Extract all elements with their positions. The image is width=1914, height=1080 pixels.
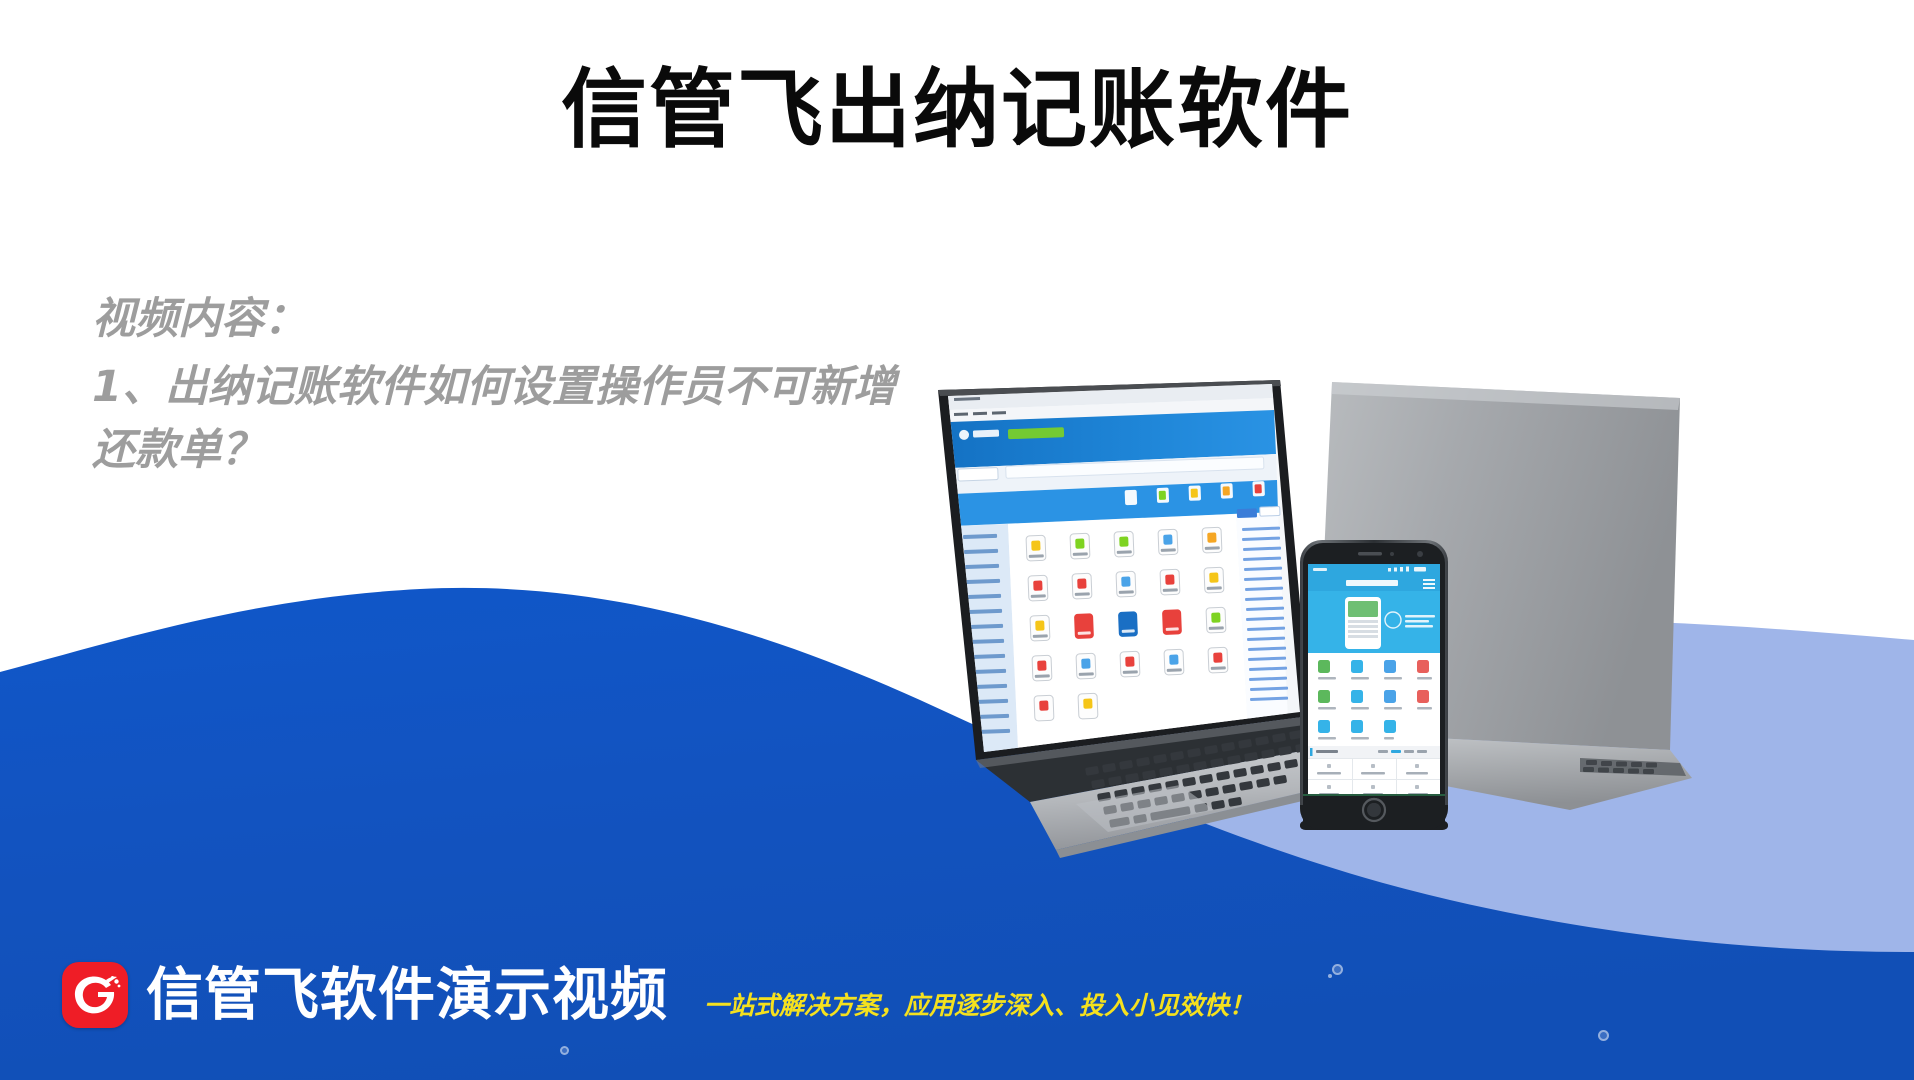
- smartphone: [1300, 540, 1448, 830]
- laptop-screen: [940, 380, 1310, 760]
- page-title: 信管飞出纳记账软件: [0, 62, 1914, 158]
- phone-chin: [1300, 794, 1448, 830]
- xinguanfei-bird-logo-icon: [62, 962, 128, 1028]
- brand-title: 信管飞软件演示视频: [146, 967, 668, 1024]
- brand-tagline: 一站式解决方案，应用逐步深入、投入小见效快！: [704, 986, 1254, 1028]
- device-illustration: [880, 380, 1914, 940]
- decorative-dot: [1332, 964, 1343, 975]
- decorative-dot: [1328, 974, 1332, 978]
- video-content-heading: 视频内容：: [92, 288, 1122, 350]
- phone-screen: [1308, 564, 1440, 799]
- footer-brand-bar: 信管飞软件演示视频 一站式解决方案，应用逐步深入、投入小见效快！: [62, 962, 1254, 1028]
- slide-canvas: 信管飞出纳记账软件 视频内容： 1、出纳记账软件如何设置操作员不可新增 还款单？: [0, 0, 1914, 1080]
- decorative-dot: [560, 1046, 569, 1055]
- decorative-dot: [1598, 1030, 1609, 1041]
